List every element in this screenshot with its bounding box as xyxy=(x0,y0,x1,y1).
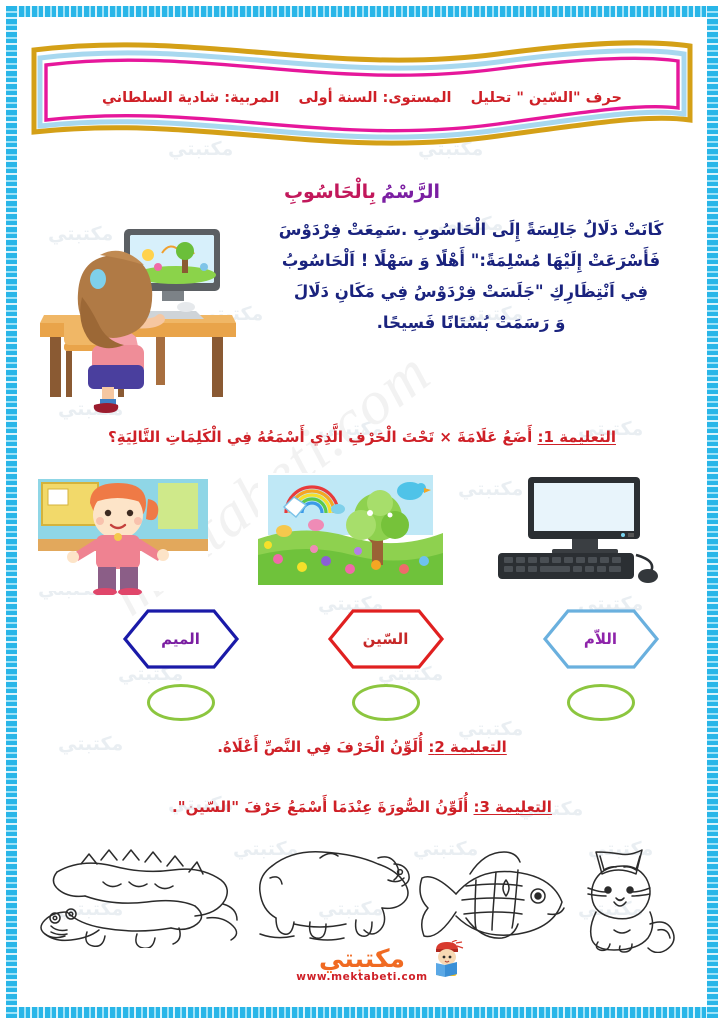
instruction-3: التعليمة 3: أُلَوِّنُ الصُّورَةَ عِنْدَم… xyxy=(32,798,692,816)
letter-label-meem: الميم xyxy=(122,608,240,670)
lesson-title-part1: الرَّسْمُ xyxy=(381,181,440,203)
header-teacher: المربية: شادية السلطاني xyxy=(102,90,279,106)
hexagon-laam[interactable]: اللاّم xyxy=(542,608,660,670)
computer-picture[interactable] xyxy=(468,473,668,585)
logo-wordmark: مكتبتي xyxy=(296,946,427,972)
hexagon-seen[interactable]: السّين xyxy=(327,608,445,670)
letter-choice-laam[interactable]: اللاّم xyxy=(533,608,668,721)
letter-label-seen: السّين xyxy=(327,608,445,670)
letter-choice-seen[interactable]: السّين xyxy=(318,608,453,721)
coloring-row xyxy=(34,838,690,953)
instruction-2: التعليمة 2: أُلَوِّنُ الْحَرْفَ فِي النَ… xyxy=(32,738,692,756)
answer-oval-meem[interactable] xyxy=(147,684,215,721)
answer-oval-laam[interactable] xyxy=(567,684,635,721)
instruction-2-text: أُلَوِّنُ الْحَرْفَ فِي النَّصِّ أَعْلَا… xyxy=(217,738,423,756)
story-line-2: فَأَسْرَعَتْ إِلَيْهَا مُسْلِمَةً:" أَهْ… xyxy=(256,245,686,276)
instruction-1: التعليمة 1: أَضَعُ عَلَامَةَ × تَحْتَ ال… xyxy=(32,428,692,446)
answer-oval-seen[interactable] xyxy=(352,684,420,721)
header-banner: حرف "السّين " تحليل المستوى: السنة أولى … xyxy=(28,28,696,146)
letter-choice-row: اللاّم السّين الميم xyxy=(36,608,688,718)
worksheet-page: مكتبتي مكتبتي مكتبتي مكتبتي مكتبتي مكتبت… xyxy=(0,0,724,1024)
picture-row xyxy=(36,473,688,598)
lesson-title-part2: بِالْحَاسُوبِ xyxy=(284,181,376,203)
page-frame-top xyxy=(6,6,718,17)
page-frame-bottom xyxy=(6,1007,718,1018)
instruction-3-tag: التعليمة 3: xyxy=(474,798,552,816)
story-paragraph: كَانَتْ دَلَالُ جَالِسَةً إِلَى الْحَاسُ… xyxy=(256,214,686,338)
instruction-2-tag: التعليمة 2: xyxy=(428,738,506,756)
garden-picture[interactable] xyxy=(258,473,443,585)
logo-inner: مكتبتي www.mektabeti.com xyxy=(296,946,427,983)
page-frame-left xyxy=(6,6,17,1018)
header-lesson: حرف "السّين " تحليل xyxy=(471,90,622,106)
story-line-1: كَانَتْ دَلَالُ جَالِسَةً إِلَى الْحَاسُ… xyxy=(256,214,686,245)
lesson-title: الرَّسْمُ بِالْحَاسُوبِ xyxy=(18,181,706,203)
fish-drawing[interactable] xyxy=(410,838,570,948)
letter-choice-meem[interactable]: الميم xyxy=(113,608,248,721)
reading-kid-icon xyxy=(430,940,464,978)
watermark-text: مكتبتي xyxy=(458,718,523,740)
crocodile-drawing[interactable] xyxy=(27,838,242,948)
girl-at-computer-illustration xyxy=(36,223,241,413)
bear-drawing[interactable] xyxy=(250,838,410,943)
header-level: المستوى: السنة أولى xyxy=(298,90,451,106)
hexagon-meem[interactable]: الميم xyxy=(122,608,240,670)
instruction-3-text: أُلَوِّنُ الصُّورَةَ عِنْدَمَا أَسْمَعُ … xyxy=(172,798,468,816)
page-frame-right xyxy=(707,6,718,1018)
worksheet-content: مكتبتي مكتبتي مكتبتي مكتبتي مكتبتي مكتبت… xyxy=(18,18,706,1006)
instruction-1-text: أَضَعُ عَلَامَةَ × تَحْتَ الْحَرْفِ الَّ… xyxy=(108,428,532,446)
letter-label-laam: اللاّم xyxy=(542,608,660,670)
logo-url: www.mektabeti.com xyxy=(296,971,427,983)
banner-text-row: حرف "السّين " تحليل المستوى: السنة أولى … xyxy=(28,90,696,106)
story-line-3: فِي اَنْتِظَارِكِ "جَلَسَتْ فِرْدَوْسُ ف… xyxy=(256,276,686,307)
girl-picture[interactable] xyxy=(18,473,233,595)
instruction-1-tag: التعليمة 1: xyxy=(538,428,616,446)
site-logo: مكتبتي www.mektabeti.com xyxy=(18,946,706,984)
story-line-4: وَ رَسَمَتْ بُسْتَانًا فَسِيحًا. xyxy=(256,307,686,338)
cat-drawing[interactable] xyxy=(574,838,684,953)
